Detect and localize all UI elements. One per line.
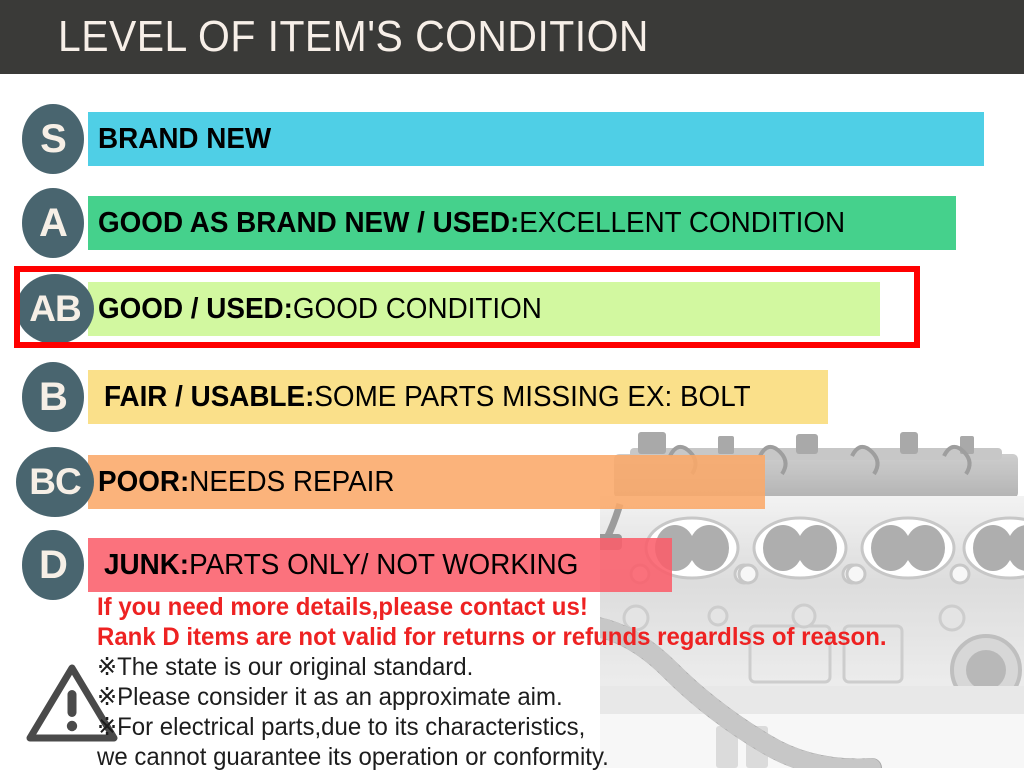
note-black-line-1: ※The state is our original standard. <box>97 652 971 682</box>
rank-label-s-bold: BRAND NEW <box>98 123 271 156</box>
rank-label-a-rest: EXCELLENT CONDITION <box>519 207 845 240</box>
page-title: LEVEL OF ITEM'S CONDITION <box>58 8 649 66</box>
notes-block: If you need more details,please contact … <box>97 592 1007 772</box>
rank-badge-d: D <box>22 530 84 600</box>
rank-label-bc-rest: NEEDS REPAIR <box>189 466 394 499</box>
note-red-line-2: Rank D items are not valid for returns o… <box>97 622 971 652</box>
rank-badge-ab: AB <box>16 274 94 344</box>
rank-label-d-bold: JUNK: <box>104 549 189 582</box>
rank-label-b-bold: FAIR / USABLE: <box>104 381 314 414</box>
rank-label-ab-rest: GOOD CONDITION <box>293 293 542 326</box>
rank-label-b-rest: SOME PARTS MISSING EX: BOLT <box>314 381 750 414</box>
rank-label-a: GOOD AS BRAND NEW / USED: EXCELLENT COND… <box>98 196 845 250</box>
rank-label-d: JUNK: PARTS ONLY/ NOT WORKING <box>104 538 578 592</box>
rank-label-b: FAIR / USABLE: SOME PARTS MISSING EX: BO… <box>104 370 751 424</box>
rank-label-bc: POOR: NEEDS REPAIR <box>98 455 395 509</box>
rank-label-s: BRAND NEW <box>98 112 271 166</box>
rank-badge-a: A <box>22 188 84 258</box>
note-red-line-1: If you need more details,please contact … <box>97 592 971 622</box>
note-black-line-3: ※For electrical parts,due to its charact… <box>97 712 971 742</box>
rank-label-a-bold: GOOD AS BRAND NEW / USED: <box>98 207 519 240</box>
rank-badge-b: B <box>22 362 84 432</box>
rank-label-ab-bold: GOOD / USED: <box>98 293 293 326</box>
rank-badge-s: S <box>22 104 84 174</box>
rank-label-bc-bold: POOR: <box>98 466 189 499</box>
note-black-line-2: ※Please consider it as an approximate ai… <box>97 682 971 712</box>
rank-badge-bc: BC <box>16 447 94 517</box>
rank-label-d-rest: PARTS ONLY/ NOT WORKING <box>189 549 578 582</box>
rank-label-ab: GOOD / USED: GOOD CONDITION <box>98 282 542 336</box>
